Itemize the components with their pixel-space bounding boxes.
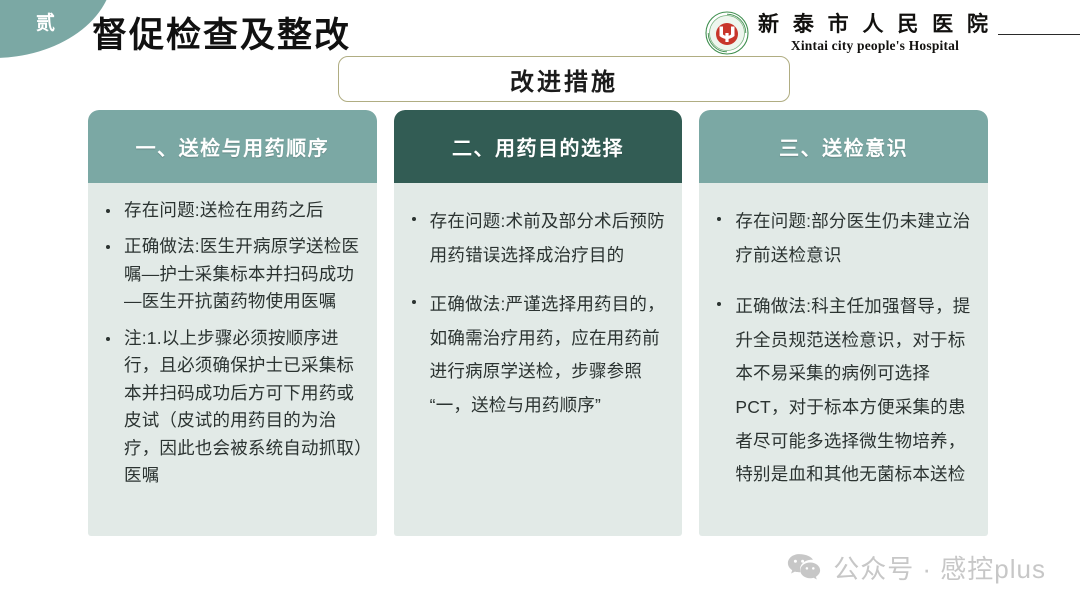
column-body-2: 存在问题:术前及部分术后预防用药错误选择成治疗目的 正确做法:严谨选择用药目的，… [394,183,683,536]
column-header-2-label: 二、用药目的选择 [452,132,624,161]
bullet-list-2: 存在问题:术前及部分术后预防用药错误选择成治疗目的 正确做法:严谨选择用药目的，… [403,205,670,423]
list-item: 存在问题:术前及部分术后预防用药错误选择成治疗目的 [403,205,670,272]
list-item: 存在问题:部分医生仍未建立治疗前送检意识 [708,205,975,272]
page-title: 督促检查及整改 [92,17,351,56]
list-item: 注:1.以上步骤必须按顺序进行，且必须确保护士已采集标本并扫码成功后方可下用药或… [97,325,364,490]
list-item: 正确做法:严谨选择用药目的，如确需治疗用药，应在用药前进行病原学送检，步骤参照“… [403,288,670,422]
header-rule [998,34,1080,35]
bullet-list-3: 存在问题:部分医生仍未建立治疗前送检意识 正确做法:科主任加强督导，提升全员规范… [708,205,975,492]
column-body-1: 存在问题:送检在用药之后 正确做法:医生开病原学送检医嘱—护士采集标本并扫码成功… [88,183,377,536]
hospital-emblem-icon [705,11,749,55]
subtitle-text: 改进措施 [510,62,618,97]
column-body-3: 存在问题:部分医生仍未建立治疗前送检意识 正确做法:科主任加强督导，提升全员规范… [699,183,988,536]
hospital-logo: 新 泰 市 人 民 医 院 Xintai city people's Hospi… [705,11,992,55]
column-header-1: 一、送检与用药顺序 [88,110,377,183]
column-header-3-label: 三、送检意识 [779,132,908,161]
slide-canvas: 贰 督促检查及整改 新 泰 市 人 民 医 院 Xintai city peop… [0,0,1080,608]
column-card-2: 二、用药目的选择 存在问题:术前及部分术后预防用药错误选择成治疗目的 正确做法:… [394,110,683,536]
column-header-3: 三、送检意识 [699,110,988,183]
list-item: 存在问题:送检在用药之后 [97,197,364,224]
section-badge-label: 贰 [26,14,66,33]
column-card-3: 三、送检意识 存在问题:部分医生仍未建立治疗前送检意识 正确做法:科主任加强督导… [699,110,988,536]
list-item: 正确做法:科主任加强督导，提升全员规范送检意识，对于标本不易采集的病例可选择PC… [708,290,975,492]
column-card-1: 一、送检与用药顺序 存在问题:送检在用药之后 正确做法:医生开病原学送检医嘱—护… [88,110,377,536]
column-header-2: 二、用药目的选择 [394,110,683,183]
watermark-text: 公众号 · 感控plus [833,549,1046,586]
hospital-name-en: Xintai city people's Hospital [791,39,959,53]
list-item: 正确做法:医生开病原学送检医嘱—护士采集标本并扫码成功—医生开抗菌药物使用医嘱 [97,233,364,315]
measure-columns: 一、送检与用药顺序 存在问题:送检在用药之后 正确做法:医生开病原学送检医嘱—护… [88,110,988,536]
wechat-icon [787,553,821,583]
hospital-name-cn: 新 泰 市 人 民 医 院 [758,14,992,35]
column-header-1-label: 一、送检与用药顺序 [136,132,330,161]
subtitle-box: 改进措施 [338,56,790,102]
bullet-list-1: 存在问题:送检在用药之后 正确做法:医生开病原学送检医嘱—护士采集标本并扫码成功… [97,197,364,490]
watermark: 公众号 · 感控plus [787,549,1046,586]
